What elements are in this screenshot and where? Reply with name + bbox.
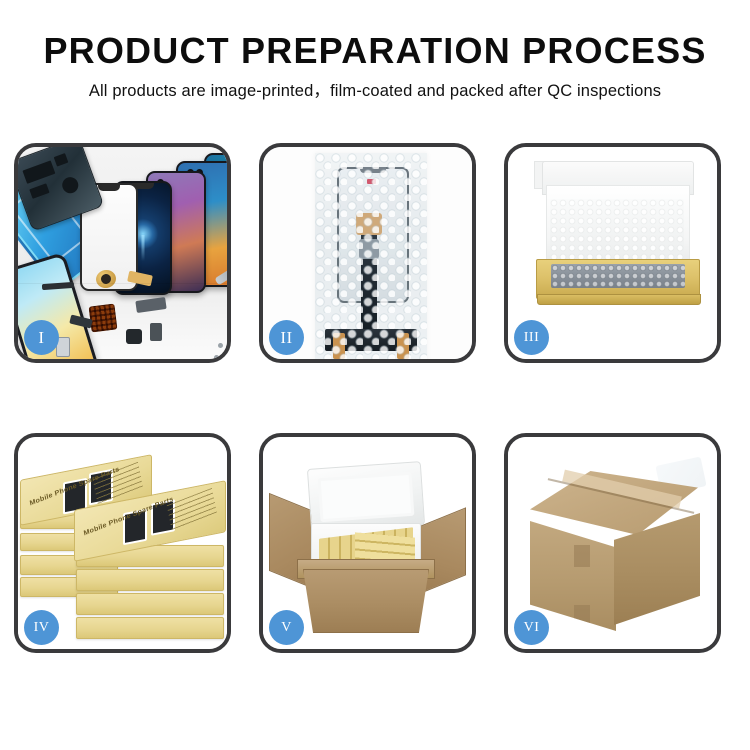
process-step-5: V	[259, 433, 476, 653]
process-step-4: Mobile Phone Spare Parts Mobile Phone Sp…	[14, 433, 231, 653]
step-badge-6: VI	[514, 610, 549, 645]
page-subtitle: All products are image-printed，film-coat…	[0, 80, 750, 102]
flex-cable-gray-icon	[135, 297, 166, 313]
page-title: PRODUCT PREPARATION PROCESS	[0, 30, 750, 72]
step-badge-1: I	[24, 320, 59, 355]
process-step-6: VI	[504, 433, 721, 653]
step-badge-4: IV	[24, 610, 59, 645]
step-badge-2: II	[269, 320, 304, 355]
product-preparation-infographic: PRODUCT PREPARATION PROCESS All products…	[0, 0, 750, 750]
foam-sheet-icon	[550, 199, 684, 261]
kraft-tray-icon	[536, 259, 700, 299]
process-step-1: 16:08Mon	[14, 143, 231, 363]
header: PRODUCT PREPARATION PROCESS All products…	[0, 0, 750, 102]
carton-front-icon	[303, 569, 429, 633]
bubble-wrapped-content-icon	[551, 264, 685, 288]
bubble-wrap-bag-icon	[315, 153, 427, 359]
step-badge-3: III	[514, 320, 549, 355]
process-steps-grid: 16:08Mon	[14, 143, 736, 653]
step-badge-5: V	[269, 610, 304, 645]
process-step-3: III	[504, 143, 721, 363]
camera-module-icon	[126, 329, 142, 344]
connector-grid-icon	[89, 304, 118, 333]
process-step-2: II	[259, 143, 476, 363]
battery-connector-icon	[150, 323, 162, 341]
